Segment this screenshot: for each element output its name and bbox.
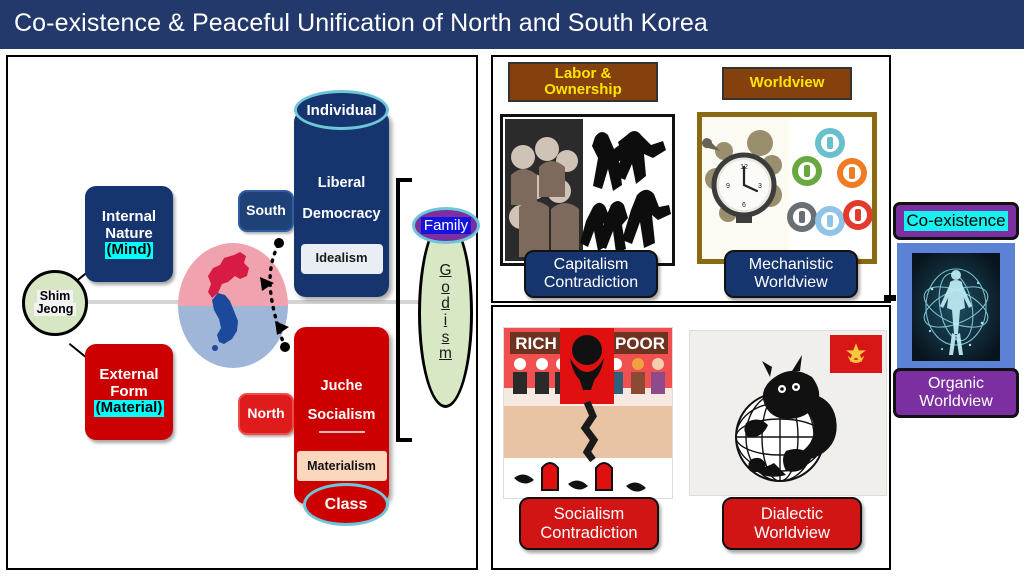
juche-line2: Socialism — [308, 407, 376, 423]
dialectic-image — [689, 330, 887, 496]
human-atom-icon — [912, 253, 1000, 361]
socialism-caption-line2: Contradiction — [540, 524, 637, 542]
north-tag-label: North — [247, 406, 284, 422]
svg-text:6: 6 — [742, 202, 746, 209]
capitalism-caption-line2: Contradiction — [544, 274, 638, 291]
labor-heading-line2: Ownership — [544, 81, 622, 98]
svg-text:RICH: RICH — [515, 334, 557, 353]
materialism-tag: Materialism — [297, 451, 387, 481]
socialism-caption-line1: Socialism — [554, 505, 625, 523]
labor-heading-line1: Labor & — [555, 65, 612, 82]
shim-jeong-line2: Jeong — [34, 303, 77, 316]
slide-title-bar: Co-existence & Peaceful Unification of N… — [0, 0, 1024, 49]
organic-caption-line1: Organic — [928, 375, 984, 392]
coexistence-badge: Co-existence — [893, 202, 1019, 240]
class-badge: Class — [303, 483, 389, 526]
coexistence-label: Co-existence — [904, 211, 1007, 231]
external-form-highlight: (Material) — [94, 400, 165, 417]
synthesis-bracket — [396, 178, 412, 442]
north-tag: North — [238, 393, 294, 435]
juche-divider — [319, 431, 365, 433]
external-form-line2: Form — [110, 384, 148, 401]
godism-letter-0: G — [439, 263, 451, 280]
dialectic-caption-line1: Dialectic — [761, 505, 823, 523]
family-label: Family — [421, 217, 471, 234]
family-badge: Family — [412, 207, 480, 244]
svg-text:POOR: POOR — [615, 334, 665, 353]
mechanistic-caption-line2: Worldview — [754, 274, 828, 291]
worldview-heading-label: Worldview — [750, 75, 825, 91]
godism-letter-5: m — [439, 346, 452, 363]
internal-nature-line2: Nature — [105, 226, 153, 243]
svg-text:3: 3 — [758, 183, 762, 190]
dialectic-caption-line2: Worldview — [754, 524, 830, 542]
mechanistic-caption: Mechanistic Worldview — [724, 250, 858, 298]
worldview-heading: Worldview — [722, 67, 852, 100]
liberal-democracy-card: Liberal Democracy Idealism — [294, 110, 389, 297]
idealism-tag: Idealism — [301, 244, 383, 274]
liberal-democracy-line2: Democracy — [302, 206, 380, 222]
south-tag-label: South — [246, 203, 286, 219]
korea-map-graphic — [178, 243, 288, 368]
godism-letter-3: i — [444, 313, 447, 330]
class-label: Class — [325, 496, 368, 514]
coexistence-connector — [884, 295, 896, 301]
organic-worldview-caption: Organic Worldview — [893, 368, 1019, 418]
liberal-democracy-line1: Liberal — [318, 175, 366, 191]
page-title: Co-existence & Peaceful Unification of N… — [14, 9, 708, 38]
juche-socialism-card: Juche Socialism Materialism — [294, 327, 389, 504]
individual-label: Individual — [306, 102, 376, 119]
external-form-line1: External — [99, 367, 158, 384]
capitalism-caption: Capitalism Contradiction — [524, 250, 658, 298]
internal-nature-highlight: (Mind) — [105, 242, 154, 259]
socialism-image: RICH POOR — [503, 327, 673, 499]
juche-line1: Juche — [321, 378, 363, 394]
shim-jeong-node: Shim Jeong — [22, 270, 88, 336]
organic-worldview-image — [897, 243, 1015, 371]
individual-badge: Individual — [294, 90, 389, 130]
svg-text:12: 12 — [740, 164, 748, 171]
dialectic-caption: Dialectic Worldview — [722, 497, 862, 550]
organic-image-inner — [912, 253, 1000, 361]
svg-text:9: 9 — [726, 183, 730, 190]
mechanistic-image: 123 69 — [697, 112, 877, 264]
socialism-caption: Socialism Contradiction — [519, 497, 659, 550]
capitalism-image — [500, 114, 675, 266]
slide-root: Co-existence & Peaceful Unification of N… — [0, 0, 1024, 576]
organic-caption-line2: Worldview — [919, 393, 993, 410]
godism-capsule: G o d i s m — [418, 218, 473, 408]
labor-ownership-heading: Labor & Ownership — [508, 62, 658, 102]
south-tag: South — [238, 190, 294, 232]
capitalism-caption-line1: Capitalism — [554, 256, 629, 273]
internal-nature-card: Internal Nature (Mind) — [85, 186, 173, 282]
internal-nature-line1: Internal — [102, 209, 156, 226]
external-form-card: External Form (Material) — [85, 344, 173, 440]
godism-letter-4: s — [442, 330, 450, 347]
mechanistic-caption-line1: Mechanistic — [749, 256, 833, 273]
godism-letter-1: o — [441, 280, 450, 297]
godism-letter-2: d — [441, 296, 450, 313]
